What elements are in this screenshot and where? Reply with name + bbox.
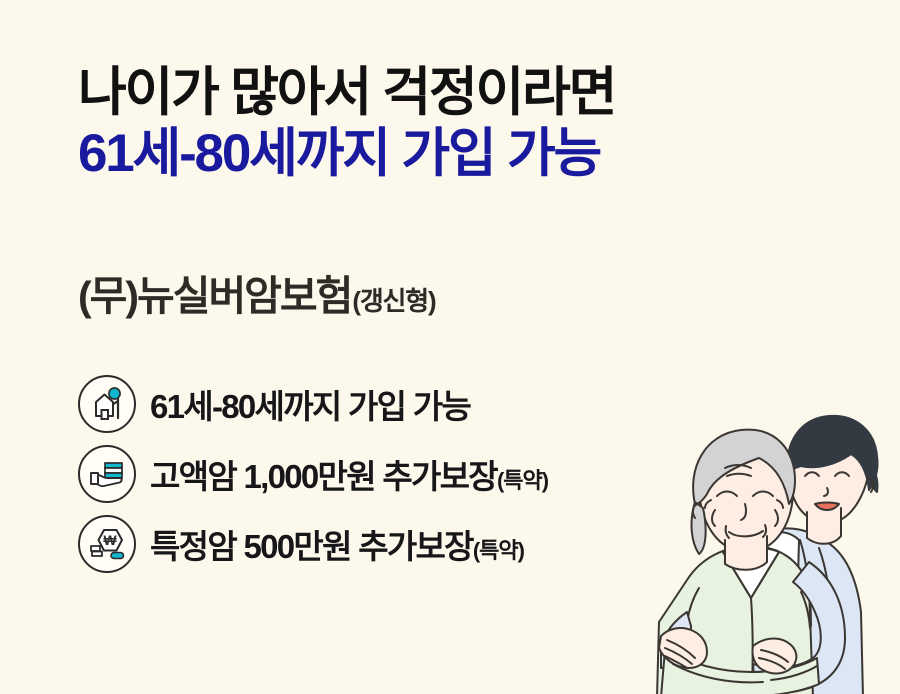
product-name: (무)뉴실버암보험 [78, 262, 351, 322]
list-item-text: 특정암 500만원 추가보장(특약) [150, 520, 524, 568]
benefit-label: 특정암 500만원 추가보장 [150, 520, 473, 568]
list-item: ₩ 특정암 500만원 추가보장(특약) [78, 515, 548, 573]
elderly-person-with-cane-icon [78, 375, 136, 433]
headline-line-1: 나이가 많아서 걱정이라면 [78, 62, 615, 123]
benefit-label: 고액암 1,000만원 추가보장 [150, 450, 497, 498]
list-item-text: 고액암 1,000만원 추가보장(특약) [150, 450, 548, 498]
headline-block: 나이가 많아서 걱정이라면 61세-80세까지 가입 가능 [78, 62, 615, 185]
list-item-text: 61세-80세까지 가입 가능 [150, 380, 470, 428]
insurance-promo-banner: 나이가 많아서 걱정이라면 61세-80세까지 가입 가능 (무)뉴실버암보험 … [0, 0, 900, 694]
svg-text:₩: ₩ [103, 532, 117, 548]
list-item: 고액암 1,000만원 추가보장(특약) [78, 445, 548, 503]
benefit-suffix: (특약) [497, 463, 548, 495]
product-name-block: (무)뉴실버암보험 (갱신형) [78, 262, 435, 322]
hand-holding-money-icon [78, 445, 136, 503]
product-name-suffix: (갱신형) [352, 281, 435, 318]
headline-line-2: 61세-80세까지 가입 가능 [78, 123, 615, 184]
benefit-suffix: (특약) [473, 533, 524, 565]
list-item: 61세-80세까지 가입 가능 [78, 375, 548, 433]
benefit-label: 61세-80세까지 가입 가능 [150, 380, 470, 428]
elderly-woman-and-young-person-embracing-illustration [595, 412, 900, 694]
won-hexagon-icon: ₩ [78, 515, 136, 573]
benefit-list: 61세-80세까지 가입 가능 고액암 1,000만원 추가보장(특약) [78, 375, 548, 585]
